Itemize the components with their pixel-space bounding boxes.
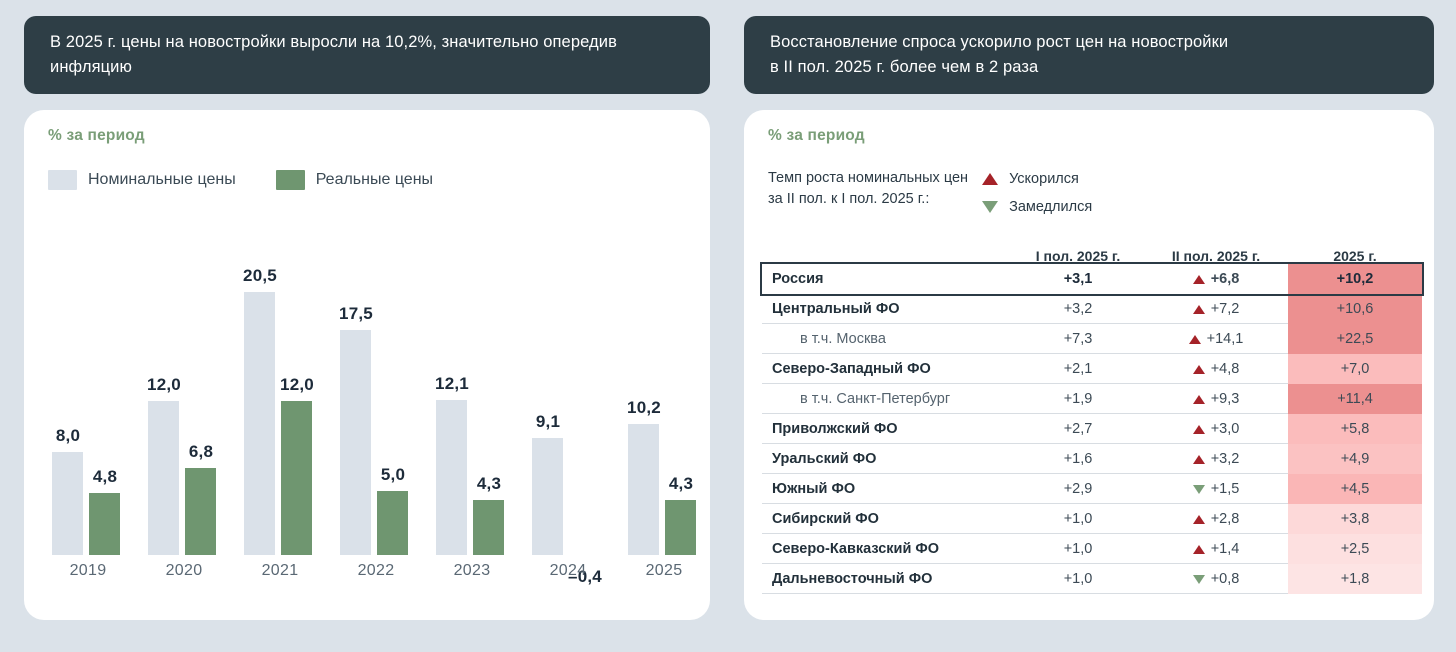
cell-h2: +4,8 <box>1144 354 1288 384</box>
bar-group-2025: 10,24,3 <box>616 210 712 555</box>
legend-label-real: Реальные цены <box>316 171 433 189</box>
region-name: Россия <box>772 271 823 287</box>
region-name: в т.ч. Санкт-Петербург <box>772 391 950 407</box>
legend-item-real: Реальные цены <box>276 170 433 190</box>
table-row: в т.ч. Москва+7,3+14,1+22,5 <box>762 324 1422 354</box>
triangle-up-icon <box>1193 425 1205 434</box>
table-row: в т.ч. Санкт-Петербург+1,9+9,3+11,4 <box>762 384 1422 414</box>
triangle-down-icon <box>1193 575 1205 584</box>
bar-real-2019 <box>89 493 120 555</box>
cell-region: Сибирский ФО <box>762 504 1012 534</box>
cell-year-value: +22,5 <box>1288 324 1422 354</box>
triangle-up-icon <box>1193 275 1205 284</box>
right-banner-text: Восстановление спроса ускорило рост цен … <box>770 30 1408 80</box>
trend-key-accelerated: Ускорился <box>982 168 1092 189</box>
bar-real-2020 <box>185 468 216 555</box>
x-axis-label-2022: 2022 <box>328 562 424 580</box>
cell-h2-value: +2,8 <box>1211 511 1240 527</box>
bar-label-real-2025: 4,3 <box>646 474 716 494</box>
regions-table-card: % за период Темп роста номинальных цен з… <box>744 110 1434 620</box>
cell-h2: +3,0 <box>1144 414 1288 444</box>
cell-region: в т.ч. Москва <box>762 324 1012 354</box>
cell-year-value: +2,5 <box>1288 534 1422 564</box>
trend-key-slowed: Замедлился <box>982 196 1092 217</box>
cell-h2-value: +9,3 <box>1211 391 1240 407</box>
region-name: Приволжский ФО <box>772 421 898 437</box>
legend-item-nominal: Номинальные цены <box>48 170 236 190</box>
x-axis-label-2023: 2023 <box>424 562 520 580</box>
triangle-up-icon <box>1193 455 1205 464</box>
bar-nom-2024 <box>532 438 563 555</box>
bar-group-2020: 12,06,8 <box>136 210 232 555</box>
x-axis-label-2019: 2019 <box>40 562 136 580</box>
bar-label-nom-2022: 17,5 <box>321 304 391 324</box>
cell-h1-value: +1,6 <box>1012 444 1144 474</box>
chart-card-title: % за период <box>48 127 145 145</box>
cell-h2-value: +7,2 <box>1211 301 1240 317</box>
bar-label-nom-2019: 8,0 <box>33 426 103 446</box>
cell-year-value: +10,6 <box>1288 294 1422 324</box>
table-row: Северо-Западный ФО+2,1+4,8+7,0 <box>762 354 1422 384</box>
bar-group-2022: 17,55,0 <box>328 210 424 555</box>
cell-h2: +1,4 <box>1144 534 1288 564</box>
table-row: Уральский ФО+1,6+3,2+4,9 <box>762 444 1422 474</box>
cell-region: Дальневосточный ФО <box>762 564 1012 594</box>
trend-key-slowed-label: Замедлился <box>1009 199 1092 215</box>
cell-year-value: +3,8 <box>1288 504 1422 534</box>
triangle-up-icon <box>1193 365 1205 374</box>
region-name: Северо-Западный ФО <box>772 361 931 377</box>
triangle-down-icon <box>982 201 998 213</box>
trend-legend-text: Темп роста номинальных цен за II пол. к … <box>768 168 968 210</box>
bar-label-nom-2025: 10,2 <box>609 398 679 418</box>
left-banner-text: В 2025 г. цены на новостройки выросли на… <box>50 30 684 80</box>
cell-h1-value: +3,1 <box>1012 264 1144 294</box>
chart-legend: Номинальные цены Реальные цены <box>48 170 433 190</box>
infographic-page: В 2025 г. цены на новостройки выросли на… <box>0 0 1456 652</box>
trend-key-accelerated-label: Ускорился <box>1009 171 1079 187</box>
bar-label-real-2021: 12,0 <box>262 375 332 395</box>
cell-h1-value: +2,1 <box>1012 354 1144 384</box>
cell-h2: +3,2 <box>1144 444 1288 474</box>
x-axis-label-2025: 2025 <box>616 562 712 580</box>
cell-region: Северо-Западный ФО <box>762 354 1012 384</box>
table-header-row: I пол. 2025 г. II пол. 2025 г. 2025 г. <box>762 238 1422 264</box>
table-card-title: % за период <box>768 127 865 145</box>
cell-region: Россия <box>762 264 1012 294</box>
cell-h2: +14,1 <box>1144 324 1288 354</box>
cell-h2-value: +1,5 <box>1211 481 1240 497</box>
legend-swatch-nominal <box>48 170 77 190</box>
cell-h1-value: +3,2 <box>1012 294 1144 324</box>
bar-real-2021 <box>281 401 312 555</box>
cell-h2-value: +1,4 <box>1211 541 1240 557</box>
triangle-down-icon <box>1193 485 1205 494</box>
cell-region: Центральный ФО <box>762 294 1012 324</box>
triangle-up-icon <box>1193 515 1205 524</box>
cell-region: Уральский ФО <box>762 444 1012 474</box>
cell-h1-value: +2,9 <box>1012 474 1144 504</box>
table-row: Северо-Кавказский ФО+1,0+1,4+2,5 <box>762 534 1422 564</box>
bar-label-real-2019: 4,8 <box>70 467 140 487</box>
left-banner: В 2025 г. цены на новостройки выросли на… <box>24 16 710 94</box>
table-header-h2: II пол. 2025 г. <box>1144 248 1288 264</box>
cell-h2-value: +3,2 <box>1211 451 1240 467</box>
cell-h1-value: +2,7 <box>1012 414 1144 444</box>
triangle-up-icon <box>1193 545 1205 554</box>
cell-h2-value: +0,8 <box>1211 571 1240 587</box>
table-row: Россия+3,1+6,8+10,2 <box>762 264 1422 294</box>
bar-nom-2021 <box>244 292 275 555</box>
triangle-up-icon <box>982 173 998 185</box>
cell-h2-value: +3,0 <box>1211 421 1240 437</box>
cell-h2-value: +6,8 <box>1211 271 1240 287</box>
cell-h2: +7,2 <box>1144 294 1288 324</box>
price-growth-bar-chart: 8,04,8201912,06,8202020,512,0202117,55,0… <box>40 210 712 600</box>
cell-h1-value: +1,0 <box>1012 564 1144 594</box>
region-name: Северо-Кавказский ФО <box>772 541 939 557</box>
bar-real-2022 <box>377 491 408 555</box>
cell-h2: +6,8 <box>1144 264 1288 294</box>
cell-region: Приволжский ФО <box>762 414 1012 444</box>
table-body: Россия+3,1+6,8+10,2Центральный ФО+3,2+7,… <box>762 264 1422 594</box>
triangle-up-icon <box>1189 335 1201 344</box>
cell-h2: +0,8 <box>1144 564 1288 594</box>
cell-region: Южный ФО <box>762 474 1012 504</box>
legend-label-nominal: Номинальные цены <box>88 171 236 189</box>
regions-table: I пол. 2025 г. II пол. 2025 г. 2025 г. Р… <box>762 238 1422 594</box>
table-row: Сибирский ФО+1,0+2,8+3,8 <box>762 504 1422 534</box>
cell-year-value: +1,8 <box>1288 564 1422 594</box>
cell-h2: +1,5 <box>1144 474 1288 504</box>
cell-h2: +9,3 <box>1144 384 1288 414</box>
bar-label-real-2020: 6,8 <box>166 442 236 462</box>
table-row: Дальневосточный ФО+1,0+0,8+1,8 <box>762 564 1422 594</box>
bar-group-2019: 8,04,8 <box>40 210 136 555</box>
bar-nom-2020 <box>148 401 179 555</box>
region-name: Уральский ФО <box>772 451 876 467</box>
trend-legend-keys: Ускорился Замедлился <box>982 168 1092 217</box>
cell-year-value: +4,9 <box>1288 444 1422 474</box>
triangle-up-icon <box>1193 305 1205 314</box>
cell-h2-value: +14,1 <box>1207 331 1244 347</box>
region-name: Сибирский ФО <box>772 511 879 527</box>
bar-label-nom-2024: 9,1 <box>513 412 583 432</box>
right-panel: Восстановление спроса ускорило рост цен … <box>728 0 1456 652</box>
cell-h1-value: +1,0 <box>1012 504 1144 534</box>
x-axis-label-2020: 2020 <box>136 562 232 580</box>
cell-h1-value: +1,9 <box>1012 384 1144 414</box>
table-header-year: 2025 г. <box>1288 248 1422 264</box>
cell-year-value: +5,8 <box>1288 414 1422 444</box>
bar-real-2023 <box>473 500 504 555</box>
cell-region: в т.ч. Санкт-Петербург <box>762 384 1012 414</box>
bar-label-nom-2021: 20,5 <box>225 266 295 286</box>
cell-h1-value: +7,3 <box>1012 324 1144 354</box>
left-panel: В 2025 г. цены на новостройки выросли на… <box>0 0 728 652</box>
x-axis-label-2024: 2024 <box>520 562 616 580</box>
bar-group-2023: 12,14,3 <box>424 210 520 555</box>
table-row: Южный ФО+2,9+1,5+4,5 <box>762 474 1422 504</box>
bar-label-nom-2020: 12,0 <box>129 375 199 395</box>
table-row: Центральный ФО+3,2+7,2+10,6 <box>762 294 1422 324</box>
bar-group-2021: 20,512,0 <box>232 210 328 555</box>
legend-swatch-real <box>276 170 305 190</box>
bar-group-2024: 9,1–0,4 <box>520 210 616 555</box>
trend-legend: Темп роста номинальных цен за II пол. к … <box>768 168 1092 217</box>
cell-h2-value: +4,8 <box>1211 361 1240 377</box>
region-name: в т.ч. Москва <box>772 331 886 347</box>
cell-year-value: +4,5 <box>1288 474 1422 504</box>
bar-nom-2022 <box>340 330 371 555</box>
cell-h1-value: +1,0 <box>1012 534 1144 564</box>
right-banner: Восстановление спроса ускорило рост цен … <box>744 16 1434 94</box>
triangle-up-icon <box>1193 395 1205 404</box>
chart-card: % за период Номинальные цены Реальные це… <box>24 110 710 620</box>
region-name: Центральный ФО <box>772 301 899 317</box>
bar-label-real-2023: 4,3 <box>454 474 524 494</box>
cell-year-value: +11,4 <box>1288 384 1422 414</box>
cell-region: Северо-Кавказский ФО <box>762 534 1012 564</box>
bar-label-nom-2023: 12,1 <box>417 374 487 394</box>
chart-plot-area: 8,04,8201912,06,8202020,512,0202117,55,0… <box>40 210 712 555</box>
cell-year-value: +7,0 <box>1288 354 1422 384</box>
bar-label-real-2022: 5,0 <box>358 465 428 485</box>
cell-year-value: +10,2 <box>1288 264 1422 294</box>
table-row: Приволжский ФО+2,7+3,0+5,8 <box>762 414 1422 444</box>
bar-real-2025 <box>665 500 696 555</box>
cell-h2: +2,8 <box>1144 504 1288 534</box>
table-header-h1: I пол. 2025 г. <box>1012 248 1144 264</box>
region-name: Южный ФО <box>772 481 855 497</box>
x-axis-label-2021: 2021 <box>232 562 328 580</box>
region-name: Дальневосточный ФО <box>772 571 932 587</box>
